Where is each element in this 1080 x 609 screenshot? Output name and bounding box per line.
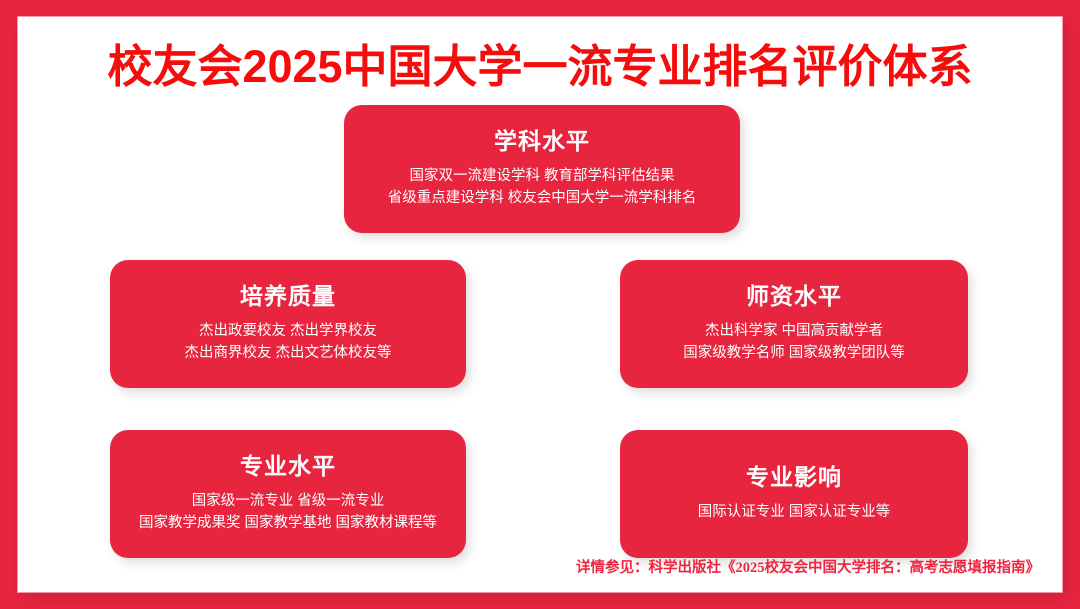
- card-title: 学科水平: [494, 126, 590, 156]
- source-footnote: 详情参见：科学出版社《2025校友会中国大学排名：高考志愿填报指南》: [576, 558, 1040, 578]
- criterion-card-major-influence: 专业影响 国际认证专业 国家认证专业等: [620, 430, 968, 558]
- card-detail-line: 杰出商界校友 杰出文艺体校友等: [184, 342, 391, 364]
- card-detail-list: 国家级一流专业 省级一流专业 国家教学成果奖 国家教学基地 国家教材课程等: [139, 490, 437, 534]
- card-title: 培养质量: [240, 281, 336, 311]
- card-detail-line: 国际认证专业 国家认证专业等: [698, 501, 891, 523]
- poster-canvas: 校友会2025中国大学一流专业排名评价体系 学科水平 国家双一流建设学科 教育部…: [18, 17, 1062, 592]
- card-detail-line: 国家双一流建设学科 教育部学科评估结果: [409, 165, 674, 187]
- criterion-card-discipline-level: 学科水平 国家双一流建设学科 教育部学科评估结果 省级重点建设学科 校友会中国大…: [344, 105, 740, 233]
- criterion-card-training-quality: 培养质量 杰出政要校友 杰出学界校友 杰出商界校友 杰出文艺体校友等: [110, 260, 466, 388]
- card-detail-line: 杰出科学家 中国高贡献学者: [705, 320, 883, 342]
- card-title: 专业水平: [240, 451, 336, 481]
- criterion-card-faculty-level: 师资水平 杰出科学家 中国高贡献学者 国家级教学名师 国家级教学团队等: [620, 260, 968, 388]
- card-title: 专业影响: [746, 462, 842, 492]
- card-detail-list: 杰出科学家 中国高贡献学者 国家级教学名师 国家级教学团队等: [683, 320, 905, 364]
- card-detail-line: 国家教学成果奖 国家教学基地 国家教材课程等: [139, 512, 437, 534]
- card-detail-list: 杰出政要校友 杰出学界校友 杰出商界校友 杰出文艺体校友等: [184, 320, 391, 364]
- card-title: 师资水平: [746, 281, 842, 311]
- criterion-card-major-level: 专业水平 国家级一流专业 省级一流专业 国家教学成果奖 国家教学基地 国家教材课…: [110, 430, 466, 558]
- page-title: 校友会2025中国大学一流专业排名评价体系: [18, 42, 1062, 92]
- card-detail-line: 国家级教学名师 国家级教学团队等: [683, 342, 905, 364]
- card-detail-list: 国际认证专业 国家认证专业等: [698, 501, 891, 523]
- card-detail-line: 杰出政要校友 杰出学界校友: [199, 320, 377, 342]
- poster-frame: 校友会2025中国大学一流专业排名评价体系 学科水平 国家双一流建设学科 教育部…: [0, 0, 1080, 609]
- card-detail-line: 国家级一流专业 省级一流专业: [192, 490, 385, 512]
- card-detail-list: 国家双一流建设学科 教育部学科评估结果 省级重点建设学科 校友会中国大学一流学科…: [388, 165, 697, 209]
- card-detail-line: 省级重点建设学科 校友会中国大学一流学科排名: [388, 187, 697, 209]
